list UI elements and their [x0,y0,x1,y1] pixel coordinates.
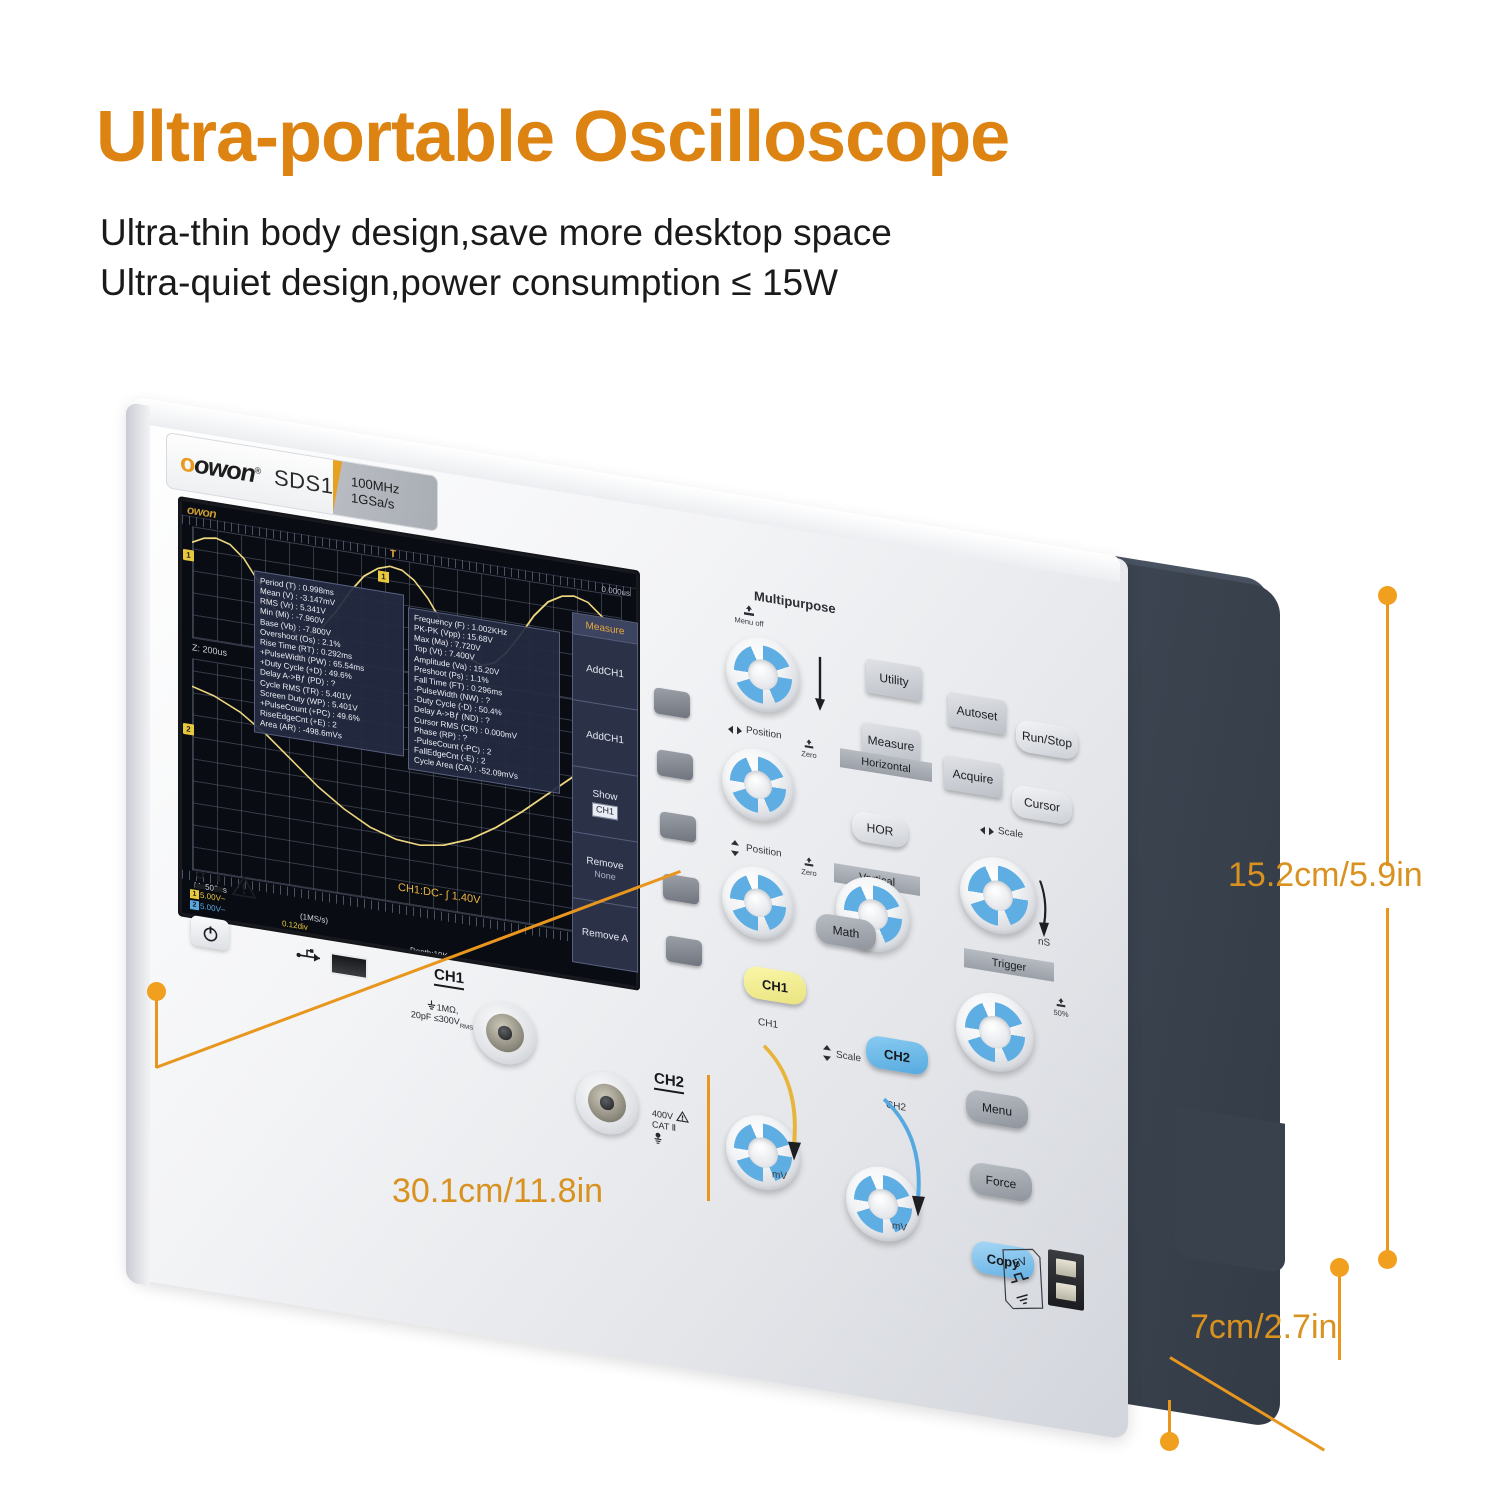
ground-symbol-icon [193,870,207,892]
ch1-knob-label: CH1 [758,1017,778,1031]
oscilloscope-product-illustration: oowon® SDS1102 100MHz 1GSa/s owon 1 2 T … [0,0,1500,1500]
probe-comp-voltage-text: 5V [1012,1255,1030,1270]
side-menu-show-channel-chip: CH1 [592,802,618,820]
height-dim-line-upper [1386,604,1389,866]
acquire-button[interactable]: Acquire [944,755,1002,798]
caution-exclamation-icon [214,873,224,895]
warning-triangle-icon [231,873,257,900]
press-knob-icon [803,856,815,868]
owon-logo: oowon® [180,448,260,490]
scale-arrows-icon [978,822,996,839]
vertical-position-label: Position [746,843,782,860]
vertical-scale-arrows-icon [820,1043,834,1063]
cursor-button[interactable]: Cursor [1012,784,1072,826]
trigger-level-knob[interactable] [956,987,1034,1078]
comp-pad-signal [1056,1258,1076,1277]
side-menu-item-show[interactable]: Show CH1 [573,765,637,841]
ch1-rms-sub: RMS [460,1024,473,1032]
zoom-timebase-label: Z: 200us [192,642,227,658]
power-button[interactable] [191,915,229,951]
depth-dim-line-right [1338,1276,1341,1360]
side-menu-label: AddCH1 [586,662,624,681]
side-menu-item-remove[interactable]: Remove None [573,831,637,907]
trigger-source-marker[interactable]: 1 [378,570,389,583]
vertical-position-knob[interactable] [722,861,794,945]
device-rear-foot [1175,1106,1285,1273]
side-menu-label: AddCH1 [586,728,624,747]
vertical-arrows-icon [728,838,742,858]
comp-pad-ground [1056,1282,1076,1301]
multipurpose-knob[interactable] [726,632,800,718]
press-knob-icon [742,604,756,617]
multipurpose-rotate-arrow [812,656,830,715]
depth-dim-dot-bottom [1160,1432,1179,1451]
horizontal-arrows-icon [726,722,744,739]
width-dim-dot-left [147,982,166,1001]
trigger-force-button[interactable]: Force [970,1161,1032,1203]
side-menu-item-add-ch1-a[interactable]: AddCH1 [573,633,637,709]
ch2-ground-marker[interactable]: 2 [183,723,194,736]
ch2-button[interactable]: CH2 [866,1034,928,1076]
utility-button[interactable]: Utility [866,658,922,701]
vertical-scale-label: Scale [836,1049,861,1064]
menu-off-line2: off [755,619,763,629]
height-dim-dot-bottom [1378,1250,1397,1269]
run-stop-button[interactable]: Run/Stop [1016,719,1078,761]
zero-text: Zero [801,867,816,878]
trigger-position-marker[interactable]: T [390,548,396,560]
side-menu-label: Remove A [582,926,628,946]
measurement-panel-left: Period (T) : 0.998msMean (V) : -3.147mVR… [254,570,404,757]
ch2-mv-label: mV [892,1221,907,1234]
horizontal-position-knob[interactable] [722,743,794,827]
front-control-panel: Multipurpose Menu off Position Zero [716,560,1086,1340]
zero-text: Zero [801,749,816,760]
registered-mark: ® [255,465,260,476]
autoset-button[interactable]: Autoset [948,692,1006,735]
power-icon [202,923,219,943]
ch2-scale-arrow [880,1093,938,1226]
depth-dim-dot-right [1330,1258,1349,1277]
side-menu-item-add-ch1-b[interactable]: AddCH1 [573,699,637,775]
ch1-bnc-pin [498,1025,511,1040]
depth-dimension-label: 7cm/2.7in [1190,1308,1337,1347]
ns-label: nS [1038,936,1050,949]
ch1-mv-label: mV [772,1169,787,1182]
vertical-zero-label: Zero [796,855,822,879]
side-menu-label: Show [592,787,617,804]
width-dimension-label: 30.1cm/11.8in [392,1172,603,1211]
ground-icon [426,999,437,1012]
ground-icon [652,1131,664,1145]
measurement-panel-right: Frequency (F) : 1.002KHzPK-PK (Vpp) : 15… [408,607,560,794]
ch1-button[interactable]: CH1 [744,965,806,1007]
warning-triangle-icon [676,1110,689,1124]
multipurpose-label: Multipurpose [754,588,836,616]
device-front-left-edge [126,402,150,1286]
display-side-menu: Measure AddCH1 AddCH1 Show CH1 Remove No… [572,612,638,973]
trigger-menu-button[interactable]: Menu [966,1088,1028,1130]
ch2-bnc-inner [588,1081,626,1126]
height-dimension-label: 15.2cm/5.9in [1228,856,1423,895]
horizontal-scale-knob[interactable] [960,852,1036,940]
side-menu-remove-target: None [594,869,616,884]
horizontal-zero-label: Zero [796,737,822,761]
hor-button[interactable]: HOR [852,810,908,849]
status-ch1-badge: 1 [190,889,199,899]
menu-off-line1: Menu [734,615,753,627]
ch1-ground-marker[interactable]: 1 [183,549,194,562]
ch2-bnc-pin [600,1095,613,1110]
height-dim-line-lower [1386,908,1389,1256]
brand-wordmark: owon [194,450,254,488]
horizontal-scale-arrow [1034,880,1054,941]
status-ch2-badge: 2 [190,900,199,910]
width-dim-line-v-right [707,1075,710,1201]
menu-off-label: Menu off [732,603,766,630]
trigger-group-label: Trigger [964,948,1054,982]
horizontal-position-label: Position [746,725,782,742]
width-dim-line-v-left [155,1000,158,1068]
ch1-bnc-inner [486,1011,524,1056]
ch1-scale-arrow [760,1041,814,1170]
percent-50-text: 50% [1053,1008,1068,1019]
trigger-50-percent-label: 50% [1046,995,1076,1020]
probe-compensation-terminal[interactable] [1048,1249,1084,1311]
height-dim-dot-top [1378,586,1397,605]
press-knob-icon [803,738,815,750]
press-knob-icon [1055,997,1067,1009]
horizontal-scale-label: Scale [998,826,1023,841]
